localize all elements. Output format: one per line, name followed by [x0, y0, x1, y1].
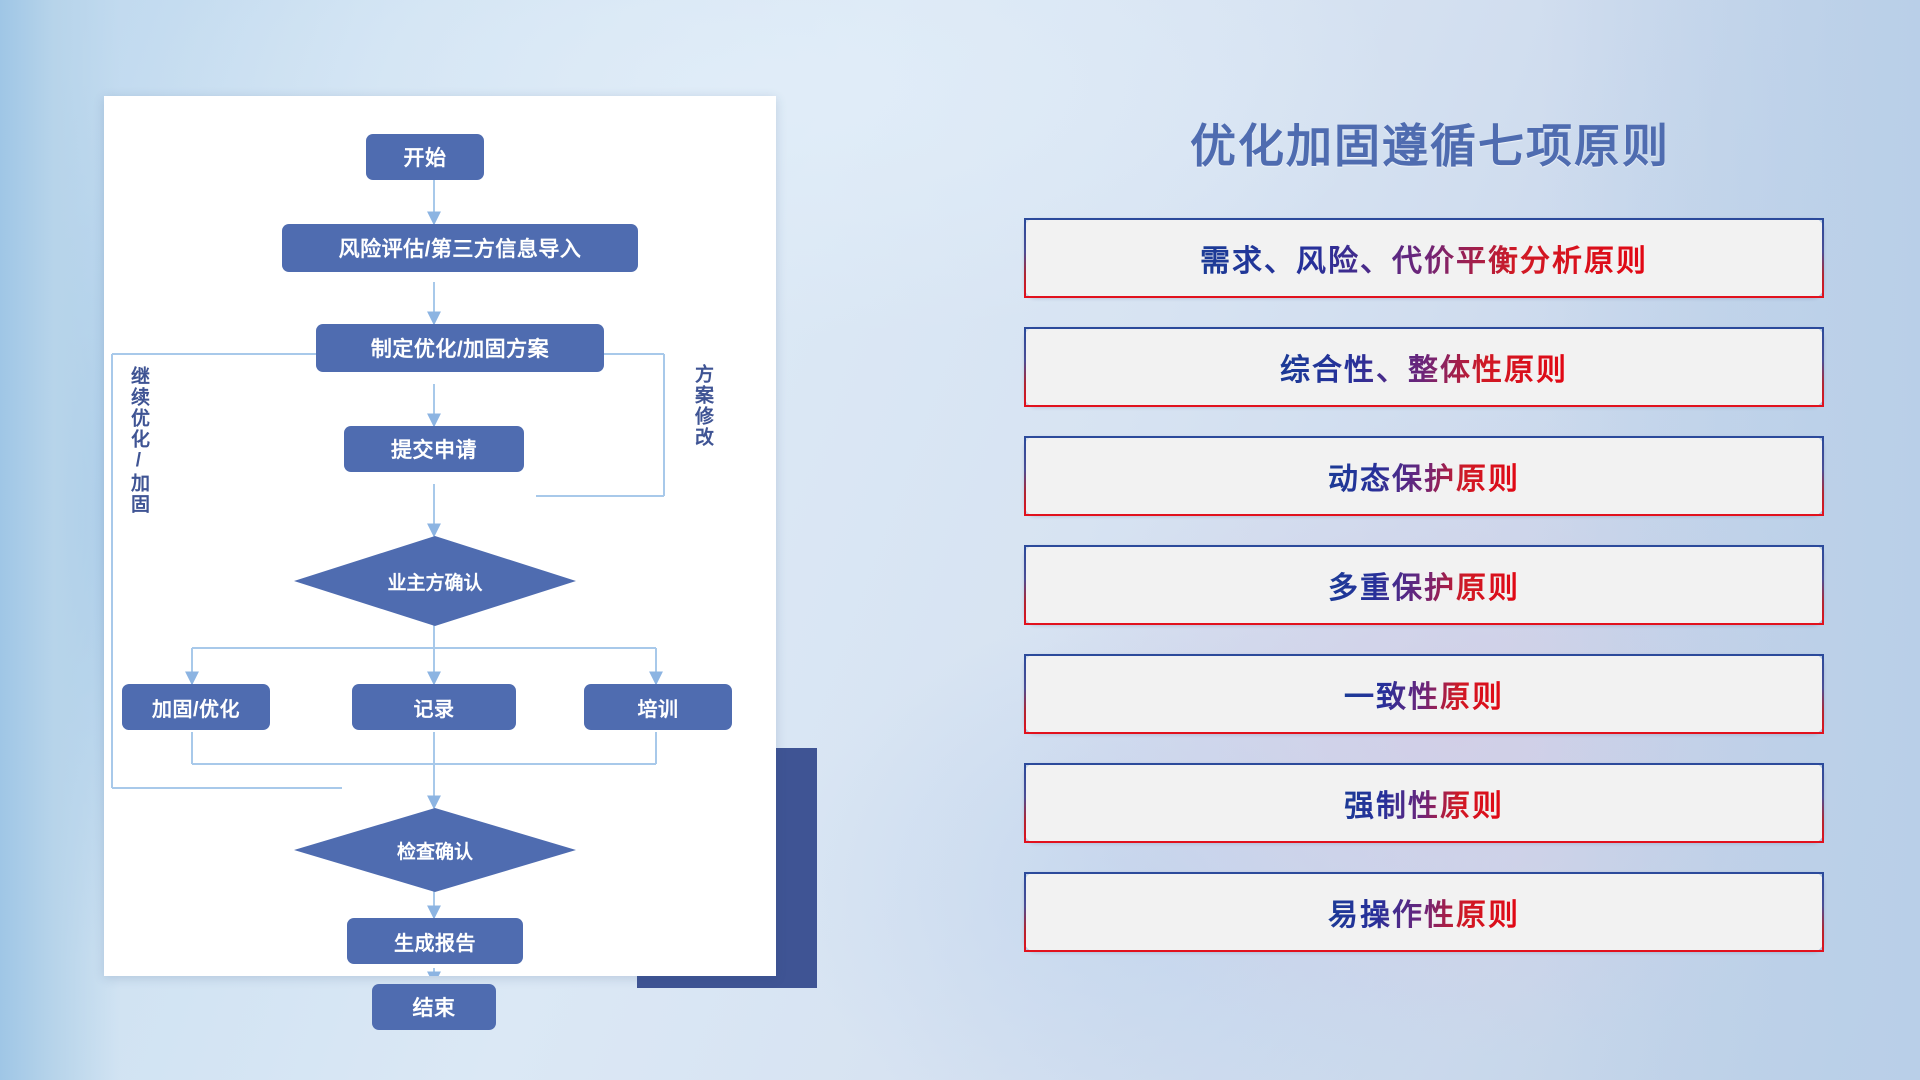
flow-node-submit-application-label: 提交申请	[391, 434, 477, 464]
flowchart-card: 开始 风险评估/第三方信息导入 制定优化/加固方案 提交申请 业主方确认 加固/…	[104, 96, 776, 976]
principle-card-7-label: 易操作性原则	[1328, 890, 1520, 934]
principle-card-1-label: 需求、风险、代价平衡分析原则	[1200, 236, 1648, 280]
flow-node-check-confirm-label: 检查确认	[397, 837, 473, 864]
flow-node-record-label: 记录	[414, 693, 455, 722]
principle-card-3[interactable]: 动态保护原则	[1024, 436, 1824, 516]
flow-node-plan[interactable]: 制定优化/加固方案	[316, 324, 604, 372]
principle-card-3-label: 动态保护原则	[1328, 454, 1520, 498]
flow-node-training-label: 培训	[638, 693, 679, 722]
page-title: 优化加固遵循七项原则	[1020, 110, 1840, 176]
flow-edge-label-plan-revision: 方案修改	[692, 364, 712, 484]
flow-node-reinforce[interactable]: 加固/优化	[122, 684, 270, 730]
flow-edge-label-continue-optimize: 继续优化/加固	[128, 366, 148, 536]
principle-card-2[interactable]: 综合性、整体性原则	[1024, 327, 1824, 407]
flow-node-training[interactable]: 培训	[584, 684, 732, 730]
flow-node-check-confirm[interactable]: 检查确认	[294, 808, 576, 892]
flow-node-end-label: 结束	[413, 992, 456, 1022]
principle-card-6[interactable]: 强制性原则	[1024, 763, 1824, 843]
principle-card-7[interactable]: 易操作性原则	[1024, 872, 1824, 952]
flow-node-risk-assessment-label: 风险评估/第三方信息导入	[339, 233, 582, 263]
flow-node-end[interactable]: 结束	[372, 984, 496, 1030]
principles-panel: 优化加固遵循七项原则 需求、风险、代价平衡分析原则 综合性、整体性原则 动态保护…	[1020, 96, 1840, 996]
principle-card-5[interactable]: 一致性原则	[1024, 654, 1824, 734]
principle-card-4-label: 多重保护原则	[1328, 563, 1520, 607]
principle-card-6-label: 强制性原则	[1344, 781, 1504, 825]
flow-node-start-label: 开始	[404, 142, 447, 172]
flow-node-reinforce-label: 加固/优化	[152, 693, 240, 722]
flow-node-generate-report-label: 生成报告	[394, 927, 476, 956]
flow-node-owner-confirm-label: 业主方确认	[387, 568, 482, 595]
background-left-edge-glow	[0, 0, 120, 1080]
flow-node-owner-confirm[interactable]: 业主方确认	[294, 536, 576, 626]
flow-node-start[interactable]: 开始	[366, 134, 484, 180]
principle-card-4[interactable]: 多重保护原则	[1024, 545, 1824, 625]
flow-node-submit-application[interactable]: 提交申请	[344, 426, 524, 472]
principle-card-1[interactable]: 需求、风险、代价平衡分析原则	[1024, 218, 1824, 298]
principles-list: 需求、风险、代价平衡分析原则 综合性、整体性原则 动态保护原则 多重保护原则 一…	[1024, 218, 1824, 981]
flow-node-record[interactable]: 记录	[352, 684, 516, 730]
flow-node-plan-label: 制定优化/加固方案	[371, 333, 549, 363]
principle-card-5-label: 一致性原则	[1344, 672, 1504, 716]
flow-node-risk-assessment[interactable]: 风险评估/第三方信息导入	[282, 224, 638, 272]
flow-node-generate-report[interactable]: 生成报告	[347, 918, 523, 964]
principle-card-2-label: 综合性、整体性原则	[1280, 345, 1568, 389]
